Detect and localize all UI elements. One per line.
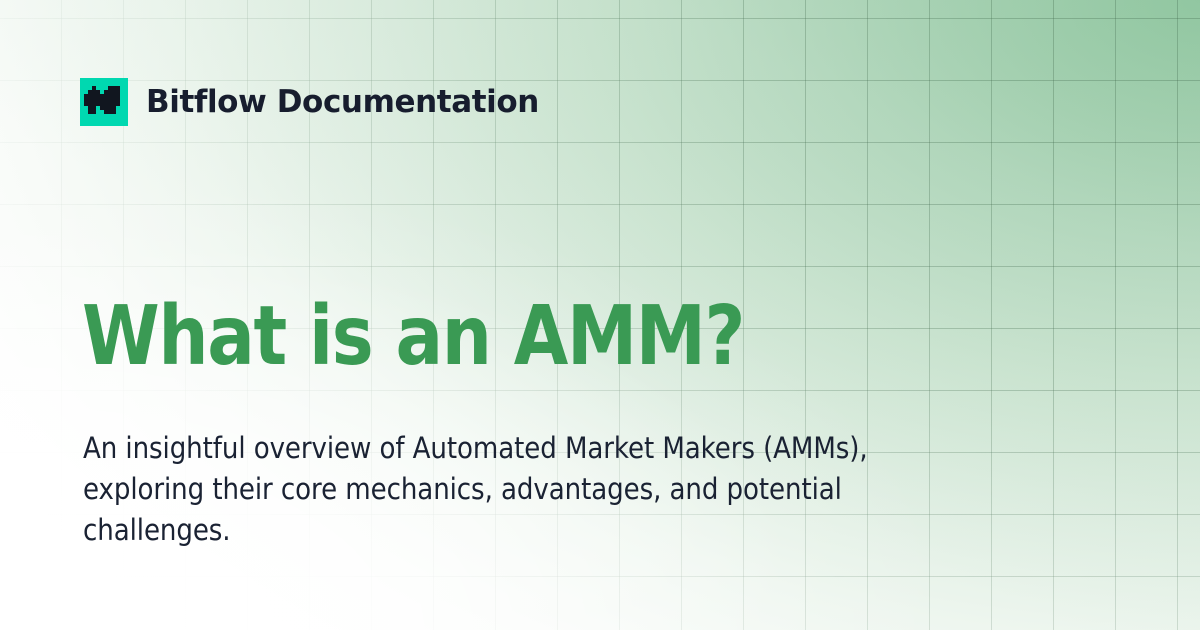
og-card: Bitflow Documentation What is an AMM? An… xyxy=(0,0,1200,630)
brand-lockup: Bitflow Documentation xyxy=(80,78,539,126)
brand-name-label: Bitflow Documentation xyxy=(146,87,539,118)
page-title: What is an AMM? xyxy=(82,296,744,378)
page-description: An insightful overview of Automated Mark… xyxy=(83,428,875,552)
card-content: Bitflow Documentation What is an AMM? An… xyxy=(0,0,1200,630)
bitflow-pixel-logo-icon xyxy=(80,78,128,126)
